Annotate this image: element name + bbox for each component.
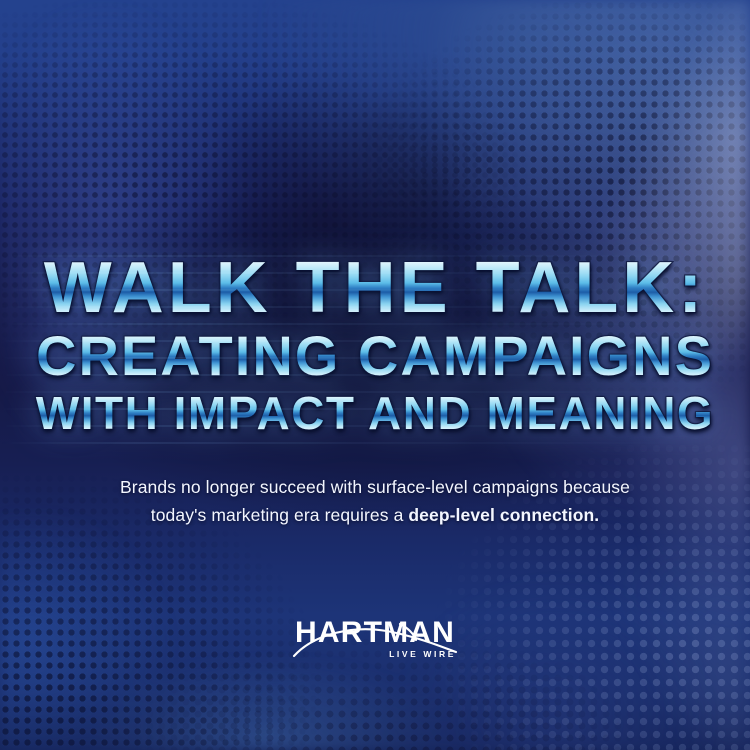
hartman-live-wire-logo: HARTMAN LIVE WIRE <box>280 612 470 664</box>
subtitle-line-1: Brands no longer succeed with surface-le… <box>0 473 750 501</box>
subtitle-line-2-emphasis: deep-level connection. <box>408 505 599 525</box>
promotional-poster: WALK THE TALK: WALK THE TALK: CREATING C… <box>0 0 750 750</box>
headline-line-2-text: CREATING CAMPAIGNS <box>0 328 750 384</box>
headline-line-1-text: WALK THE TALK: <box>0 252 750 324</box>
headline-line-3: WITH IMPACT AND MEANING WITH IMPACT AND … <box>0 390 750 440</box>
subtitle-line-2: today's marketing era requires a deep-le… <box>0 501 750 529</box>
subtitle-block: Brands no longer succeed with surface-le… <box>0 473 750 530</box>
subtitle-line-2-prefix: today's marketing era requires a <box>151 505 409 525</box>
logo-artwork: HARTMAN LIVE WIRE <box>280 612 470 664</box>
logo-tagline-text: LIVE WIRE <box>389 649 456 659</box>
headline-line-3-text: WITH IMPACT AND MEANING <box>0 390 750 436</box>
headline-line-1: WALK THE TALK: WALK THE TALK: <box>0 252 750 326</box>
headline-line-2: CREATING CAMPAIGNS CREATING CAMPAIGNS <box>0 328 750 388</box>
poster-content: WALK THE TALK: WALK THE TALK: CREATING C… <box>0 0 750 750</box>
headline-block: WALK THE TALK: WALK THE TALK: CREATING C… <box>0 252 750 440</box>
